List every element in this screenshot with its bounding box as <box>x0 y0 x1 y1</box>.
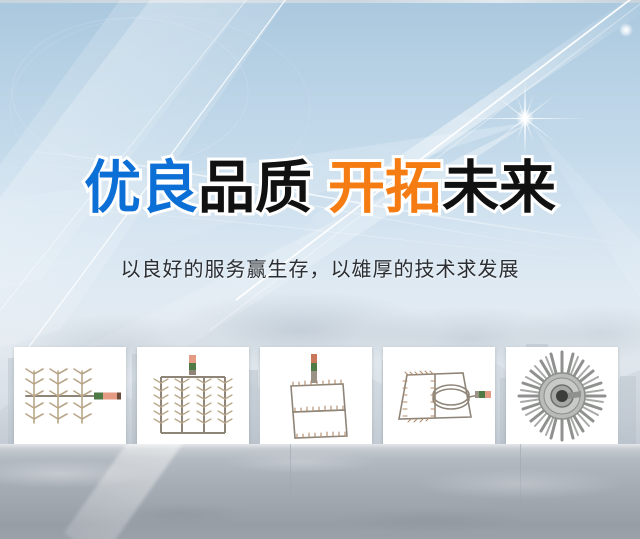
headline-segment-1: 优良 <box>84 156 198 220</box>
headline-segment-3: 开拓 <box>328 156 442 220</box>
promo-banner: 优良品质开拓未来 以良好的服务赢生存，以雄厚的技术求发展 <box>0 0 640 539</box>
product-card-row <box>14 347 626 444</box>
ground-seam-1 <box>290 444 291 539</box>
plating-rack-radial-star-icon <box>515 349 609 443</box>
headline-segment-2: 品质 <box>198 156 312 220</box>
lens-flare-icon <box>525 118 526 119</box>
plating-rack-frame-icon <box>279 352 353 440</box>
product-card-frame-rack-fixture[interactable] <box>260 347 372 444</box>
headline-segment-4: 未来 <box>442 156 556 220</box>
ground-surface <box>0 444 640 539</box>
ground-seam-2 <box>520 444 521 539</box>
product-card-radial-star-fixture[interactable] <box>506 347 618 444</box>
product-card-double-row-rack-fixture[interactable] <box>137 347 249 444</box>
lens-flare-secondary-icon <box>626 30 627 31</box>
plating-rack-ring-frame-icon <box>387 361 491 431</box>
top-edge-highlight <box>0 0 640 3</box>
product-card-comb-rack-fixture[interactable] <box>14 347 126 444</box>
product-card-ring-frame-fixture[interactable] <box>383 347 495 444</box>
headline: 优良品质开拓未来 <box>0 160 640 217</box>
plating-rack-double-row-icon <box>145 353 241 439</box>
subtitle: 以良好的服务赢生存，以雄厚的技术求发展 <box>0 258 640 282</box>
plating-rack-comb-icon <box>18 357 122 435</box>
